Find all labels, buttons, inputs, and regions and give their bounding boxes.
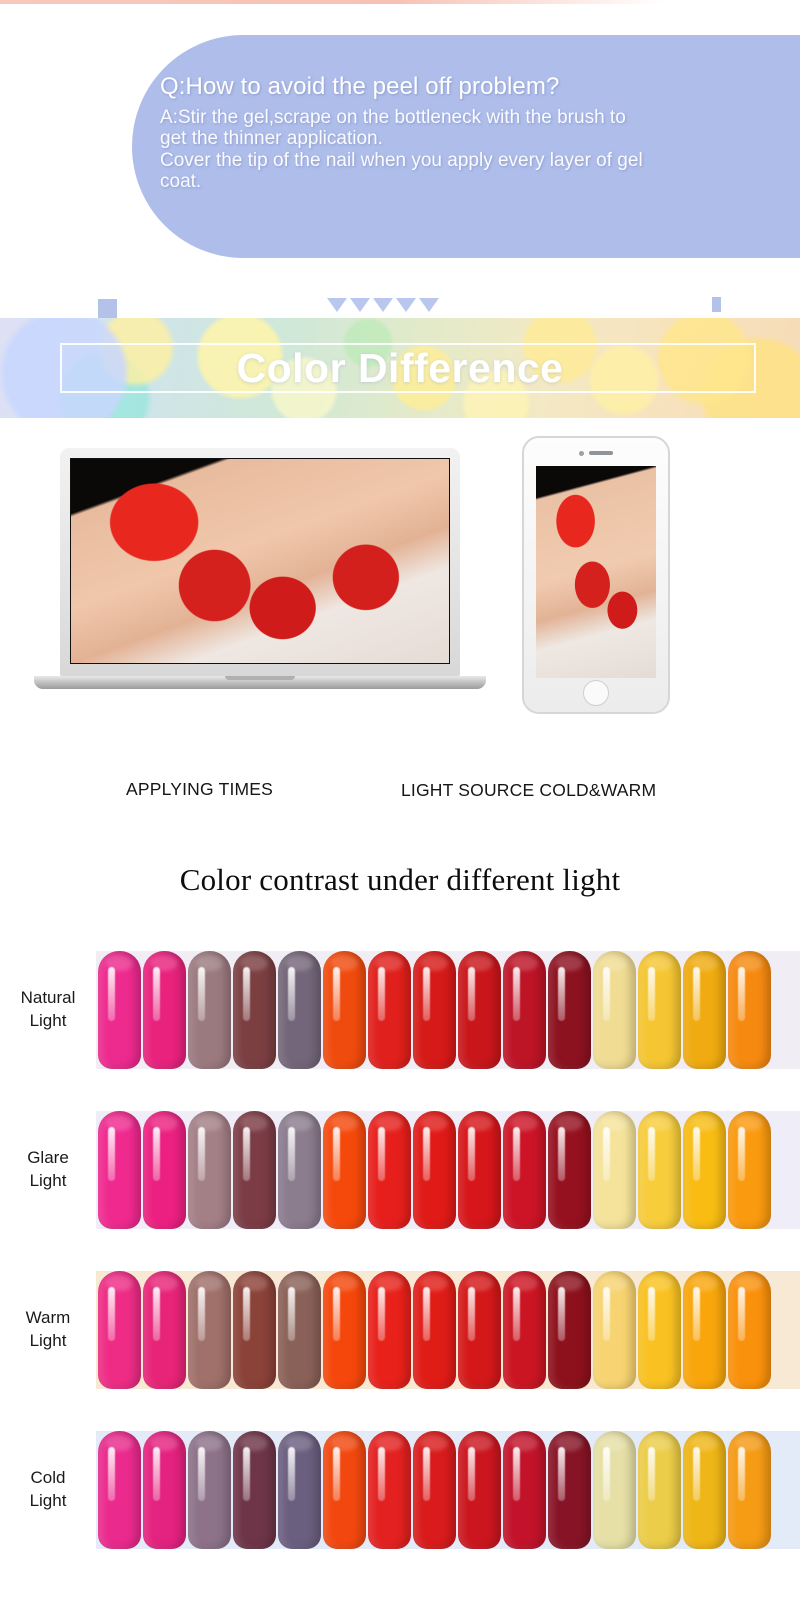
laptop-trackpad-notch xyxy=(225,676,295,680)
row-label-natural-light: Natural Light xyxy=(0,987,96,1033)
row-label-line-2: Light xyxy=(0,1330,96,1353)
laptop-mockup xyxy=(60,448,460,689)
nail-swatch xyxy=(278,1271,321,1389)
nail-swatch xyxy=(188,1271,231,1389)
nail-swatch xyxy=(233,1431,276,1549)
faq-answer-line-1: A:Stir the gel,scrape on the bottleneck … xyxy=(160,107,786,128)
row-label-line-2: Light xyxy=(0,1490,96,1513)
nail-swatch xyxy=(728,1431,771,1549)
triangle-down-icon xyxy=(419,298,439,312)
row-label-line-1: Cold xyxy=(0,1467,96,1490)
caption-light-source: LIGHT SOURCE COLD&WARM xyxy=(401,780,656,801)
faq-panel: Q:How to avoid the peel off problem? A:S… xyxy=(132,35,800,258)
triangle-down-icon xyxy=(396,298,416,312)
swatch-row-warm-light: Warm Light xyxy=(0,1250,800,1410)
laptop-screen-content xyxy=(70,458,450,664)
nail-swatch xyxy=(323,1271,366,1389)
nail-swatch xyxy=(638,1431,681,1549)
nail-swatch xyxy=(503,1271,546,1389)
nail-swatch xyxy=(458,1111,501,1229)
banner-title: Color Difference xyxy=(0,318,800,418)
nail-swatch xyxy=(143,951,186,1069)
nail-swatch xyxy=(188,951,231,1069)
top-accent-strip xyxy=(0,0,665,4)
nail-swatch xyxy=(413,1111,456,1229)
nail-swatch xyxy=(368,1111,411,1229)
nail-swatch xyxy=(458,1271,501,1389)
nail-swatch xyxy=(593,1111,636,1229)
nail-swatch xyxy=(593,951,636,1069)
nail-swatch xyxy=(458,1431,501,1549)
nail-swatch xyxy=(368,1271,411,1389)
nail-swatch xyxy=(368,1431,411,1549)
nail-swatch xyxy=(413,1271,456,1389)
phone-camera-speaker xyxy=(576,449,616,457)
nail-swatch xyxy=(548,1271,591,1389)
caption-applying-times: APPLYING TIMES xyxy=(126,779,273,800)
nail-swatch xyxy=(458,951,501,1069)
nail-swatch xyxy=(593,1431,636,1549)
nail-swatch xyxy=(143,1431,186,1549)
device-mockups xyxy=(0,430,800,730)
color-contrast-rows: Natural Light Glare Light Warm Light Col… xyxy=(0,930,800,1570)
nail-swatch xyxy=(728,951,771,1069)
nail-swatch xyxy=(638,1271,681,1389)
nail-swatch xyxy=(368,951,411,1069)
decorative-square-right xyxy=(712,297,721,312)
nail-swatch xyxy=(98,951,141,1069)
faq-answer-line-3: Cover the tip of the nail when you apply… xyxy=(160,150,786,171)
nail-photo-laptop xyxy=(71,459,449,663)
nail-swatch xyxy=(413,951,456,1069)
faq-answer-line-4: coat. xyxy=(160,171,786,192)
swatch-strip-warm-light xyxy=(96,1271,800,1389)
nail-swatch xyxy=(233,1271,276,1389)
laptop-screen-bezel xyxy=(60,448,460,676)
nail-swatch xyxy=(548,951,591,1069)
nail-swatch xyxy=(278,1431,321,1549)
smartphone-mockup xyxy=(522,436,670,714)
nail-swatch xyxy=(323,1111,366,1229)
nail-swatch xyxy=(548,1111,591,1229)
swatch-strip-natural-light xyxy=(96,951,800,1069)
row-label-line-1: Glare xyxy=(0,1147,96,1170)
front-camera-icon xyxy=(579,451,584,456)
nail-swatch xyxy=(683,1111,726,1229)
nail-swatch xyxy=(683,1431,726,1549)
nail-photo-phone xyxy=(536,466,656,678)
nail-swatch xyxy=(98,1431,141,1549)
row-label-line-2: Light xyxy=(0,1170,96,1193)
nail-swatch xyxy=(143,1111,186,1229)
laptop-base xyxy=(34,676,486,689)
row-label-warm-light: Warm Light xyxy=(0,1307,96,1353)
nail-swatch xyxy=(188,1111,231,1229)
swatch-row-glare-light: Glare Light xyxy=(0,1090,800,1250)
faq-answer-line-2: get the thinner application. xyxy=(160,128,786,149)
nail-swatch xyxy=(233,951,276,1069)
phone-screen-content xyxy=(536,466,656,678)
nail-swatch xyxy=(728,1111,771,1229)
faq-question: Q:How to avoid the peel off problem? xyxy=(160,73,786,101)
triangle-down-icon xyxy=(350,298,370,312)
nail-swatch xyxy=(593,1271,636,1389)
row-label-line-1: Natural xyxy=(0,987,96,1010)
swatch-strip-glare-light xyxy=(96,1111,800,1229)
nail-swatch xyxy=(683,1271,726,1389)
earpiece-speaker-icon xyxy=(589,451,613,455)
nail-swatch xyxy=(503,1431,546,1549)
nail-swatch xyxy=(683,951,726,1069)
row-label-line-2: Light xyxy=(0,1010,96,1033)
nail-swatch xyxy=(98,1111,141,1229)
nail-swatch xyxy=(98,1271,141,1389)
swatch-row-cold-light: Cold Light xyxy=(0,1410,800,1570)
nail-swatch xyxy=(323,951,366,1069)
swatch-strip-cold-light xyxy=(96,1431,800,1549)
decorative-triangle-row xyxy=(327,298,439,312)
swatch-row-natural-light: Natural Light xyxy=(0,930,800,1090)
nail-swatch xyxy=(413,1431,456,1549)
section-heading: Color contrast under different light xyxy=(0,862,800,898)
nail-swatch xyxy=(548,1431,591,1549)
nail-swatch xyxy=(278,951,321,1069)
triangle-down-icon xyxy=(327,298,347,312)
nail-swatch xyxy=(323,1431,366,1549)
row-label-cold-light: Cold Light xyxy=(0,1467,96,1513)
nail-swatch xyxy=(503,951,546,1069)
nail-swatch xyxy=(638,1111,681,1229)
phone-body xyxy=(522,436,670,714)
nail-swatch xyxy=(503,1111,546,1229)
nail-swatch xyxy=(188,1431,231,1549)
nail-swatch xyxy=(278,1111,321,1229)
triangle-down-icon xyxy=(373,298,393,312)
row-label-line-1: Warm xyxy=(0,1307,96,1330)
decorative-square-left xyxy=(98,299,117,318)
nail-swatch xyxy=(638,951,681,1069)
nail-swatch xyxy=(233,1111,276,1229)
row-label-glare-light: Glare Light xyxy=(0,1147,96,1193)
nail-swatch xyxy=(143,1271,186,1389)
home-button-icon xyxy=(583,680,609,706)
nail-swatch xyxy=(728,1271,771,1389)
